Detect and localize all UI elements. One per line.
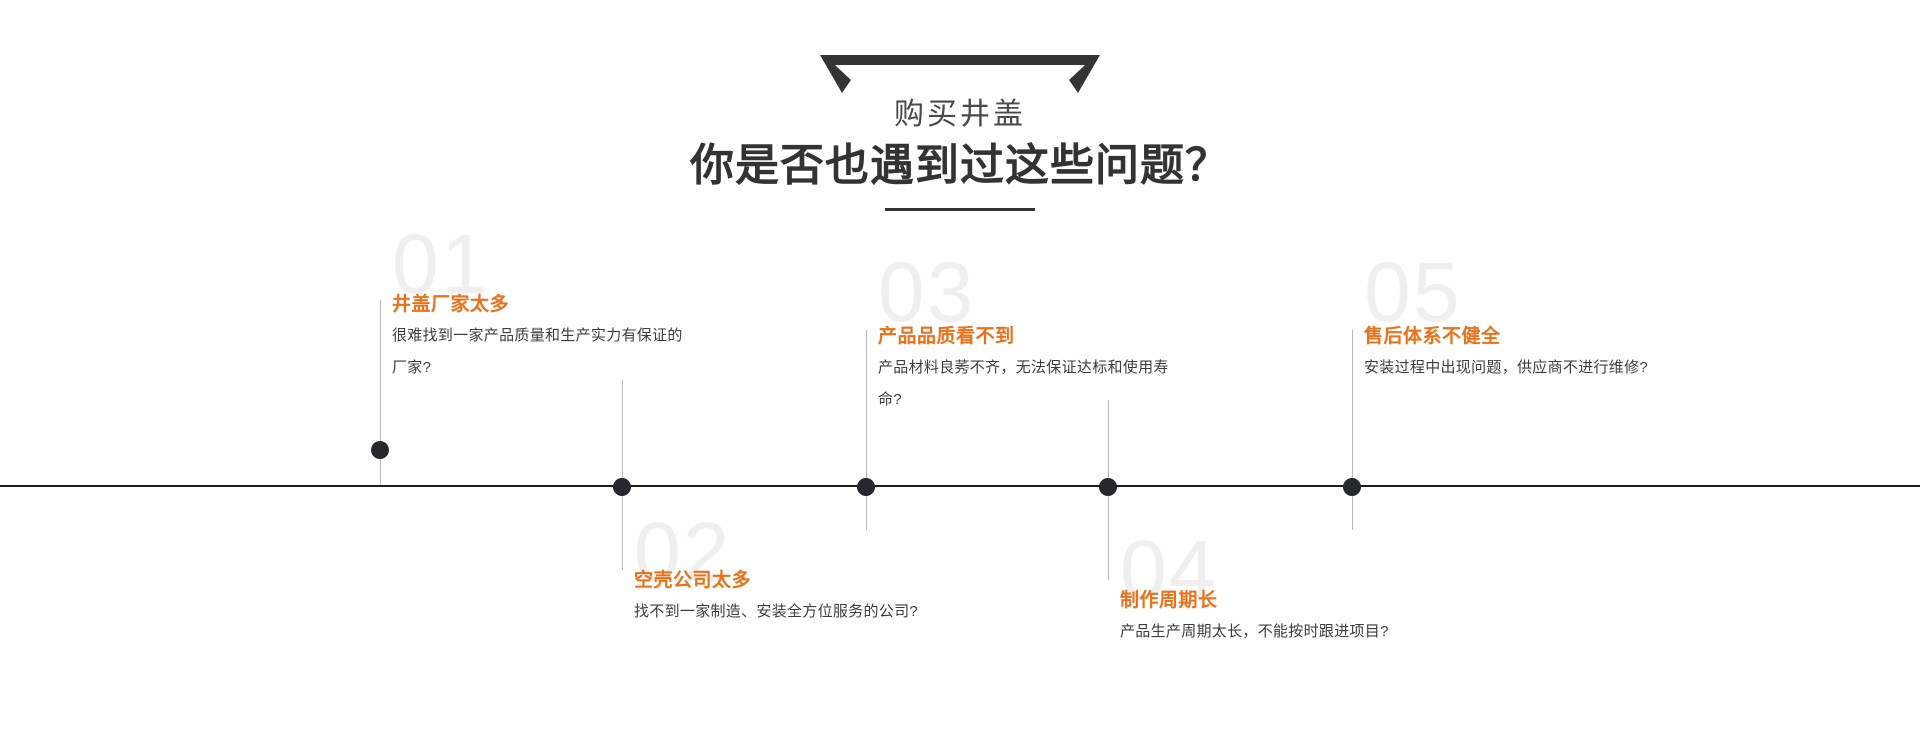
timeline-connector-line	[1352, 330, 1353, 530]
timeline-item-title: 售后体系不健全	[1364, 324, 1501, 350]
timeline-connector-line	[622, 380, 623, 570]
title-underline-divider	[885, 208, 1035, 211]
timeline-dot	[1099, 478, 1117, 496]
timeline-dot	[857, 478, 875, 496]
page-eyebrow: 购买井盖	[0, 95, 1920, 135]
timeline-item-description: 产品生产周期太长，不能按时跟进项目?	[1120, 616, 1420, 648]
timeline-item-title: 制作周期长	[1120, 588, 1218, 614]
timeline-connector-line	[866, 330, 867, 530]
timeline-item-title: 空壳公司太多	[634, 568, 751, 594]
timeline-number-watermark: 05	[1364, 250, 1461, 334]
timeline-item-description: 产品材料良莠不齐，无法保证达标和使用寿命?	[878, 352, 1178, 416]
timeline-item-description: 找不到一家制造、安装全方位服务的公司?	[634, 596, 934, 628]
trapezoid-bracket-icon	[820, 55, 1100, 93]
page-title: 你是否也遇到过这些问题？	[0, 138, 1920, 194]
timeline-item-title: 井盖厂家太多	[392, 292, 509, 318]
timeline-item-title: 产品品质看不到	[878, 324, 1015, 350]
timeline-axis	[0, 485, 1920, 487]
timeline-item-description: 很难找到一家产品质量和生产实力有保证的厂家?	[392, 320, 692, 384]
timeline-number-watermark: 03	[878, 250, 975, 334]
timeline-dot	[1343, 478, 1361, 496]
timeline-item-description: 安装过程中出现问题，供应商不进行维修?	[1364, 352, 1664, 384]
timeline-dot	[613, 478, 631, 496]
problems-timeline-page: 购买井盖 你是否也遇到过这些问题？ 01 井盖厂家太多 很难找到一家产品质量和生…	[0, 0, 1920, 739]
timeline-dot	[371, 441, 389, 459]
